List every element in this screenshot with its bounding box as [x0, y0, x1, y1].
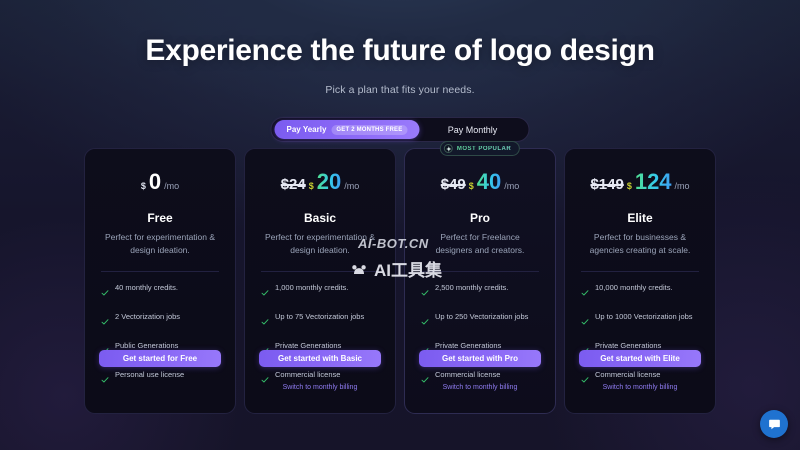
plan-name: Pro — [419, 211, 541, 225]
feature-label: 40 monthly credits. — [115, 283, 178, 292]
list-item: Up to 1000 Vectorization jobs — [581, 312, 699, 331]
status-badge: MOST POPULAR — [440, 141, 520, 156]
feature-label: 10,000 monthly credits. — [595, 283, 673, 292]
pricing-card-free[interactable]: $ 0 /mo Free Perfect for experimentation… — [84, 148, 236, 414]
switch-billing-link[interactable]: Switch to monthly billing — [245, 384, 395, 391]
feature-label: 1,000 monthly credits. — [275, 283, 348, 292]
feature-list: 2,500 monthly credits. Up to 250 Vectori… — [419, 283, 541, 389]
sparkle-icon — [444, 144, 453, 153]
price-value: 124 — [635, 171, 672, 193]
price-period: /mo — [344, 181, 359, 191]
yearly-promo-badge: GET 2 MONTHS FREE — [331, 125, 407, 135]
price-period: /mo — [504, 181, 519, 191]
feature-list: 40 monthly credits. 2 Vectorization jobs… — [99, 283, 221, 389]
currency-symbol: $ — [141, 181, 146, 191]
price-value: 40 — [477, 171, 501, 193]
plan-name: Elite — [579, 211, 701, 225]
feature-label: Private Generations — [435, 341, 501, 350]
card-divider — [261, 271, 379, 272]
list-item: 2 Vectorization jobs — [101, 312, 219, 331]
switch-billing-link[interactable]: Switch to monthly billing — [565, 384, 715, 391]
original-price: $49 — [441, 176, 466, 193]
pricing-card-elite[interactable]: $149 $ 124 /mo Elite Perfect for busines… — [564, 148, 716, 414]
check-icon — [261, 313, 269, 331]
cta-button-elite[interactable]: Get started with Elite — [579, 350, 701, 367]
plan-name: Free — [99, 211, 221, 225]
original-price: $24 — [281, 176, 306, 193]
price-period: /mo — [164, 181, 179, 191]
plan-description: Perfect for experimentation & design ide… — [259, 231, 381, 257]
feature-label: Up to 250 Vectorization jobs — [435, 312, 528, 321]
toggle-yearly-label: Pay Yearly — [287, 125, 327, 134]
pricing-card-basic[interactable]: $24 $ 20 /mo Basic Perfect for experimen… — [244, 148, 396, 414]
chat-bubble-icon — [768, 418, 781, 431]
page-root: Experience the future of logo design Pic… — [0, 0, 800, 450]
currency-symbol: $ — [469, 181, 474, 191]
switch-billing-link[interactable]: Switch to monthly billing — [405, 384, 555, 391]
card-divider — [421, 271, 539, 272]
popular-badge-label: MOST POPULAR — [457, 146, 511, 152]
price-row: $149 $ 124 /mo — [579, 171, 701, 199]
page-title: Experience the future of logo design — [0, 34, 800, 68]
check-icon — [581, 313, 589, 331]
check-icon — [101, 313, 109, 331]
page-subtitle: Pick a plan that fits your needs. — [0, 84, 800, 96]
feature-label: Public Generations — [115, 341, 178, 350]
price-value: 20 — [317, 171, 341, 193]
price-row: $ 0 /mo — [99, 171, 221, 199]
check-icon — [421, 284, 429, 302]
feature-label: 2 Vectorization jobs — [115, 312, 180, 321]
feature-label: Personal use license — [115, 370, 184, 379]
plan-description: Perfect for businesses & agencies creati… — [579, 231, 701, 257]
feature-label: Commercial license — [595, 370, 660, 379]
plan-description: Perfect for experimentation & design ide… — [99, 231, 221, 257]
currency-symbol: $ — [309, 181, 314, 191]
billing-period-toggle[interactable]: Pay Yearly GET 2 MONTHS FREE Pay Monthly — [271, 117, 530, 142]
check-icon — [101, 284, 109, 302]
currency-symbol: $ — [627, 181, 632, 191]
toggle-option-yearly[interactable]: Pay Yearly GET 2 MONTHS FREE — [275, 120, 420, 139]
list-item: 40 monthly credits. — [101, 283, 219, 302]
list-item: Personal use license — [101, 370, 219, 389]
plan-description: Perfect for Freelance designers and crea… — [419, 231, 541, 257]
feature-list: 1,000 monthly credits. Up to 75 Vectoriz… — [259, 283, 381, 389]
cta-button-pro[interactable]: Get started with Pro — [419, 350, 541, 367]
list-item: 1,000 monthly credits. — [261, 283, 379, 302]
cta-button-basic[interactable]: Get started with Basic — [259, 350, 381, 367]
check-icon — [581, 284, 589, 302]
cta-button-free[interactable]: Get started for Free — [99, 350, 221, 367]
feature-label: Private Generations — [275, 341, 341, 350]
list-item: 10,000 monthly credits. — [581, 283, 699, 302]
check-icon — [421, 313, 429, 331]
card-divider — [101, 271, 219, 272]
chat-widget-button[interactable] — [760, 410, 788, 438]
price-row: $49 $ 40 /mo — [419, 171, 541, 199]
pricing-cards: $ 0 /mo Free Perfect for experimentation… — [84, 148, 716, 414]
check-icon — [261, 284, 269, 302]
price-period: /mo — [675, 181, 690, 191]
price-value: 0 — [149, 171, 161, 193]
pricing-card-pro[interactable]: MOST POPULAR $49 $ 40 /mo Pro Perfect fo… — [404, 148, 556, 414]
price-row: $24 $ 20 /mo — [259, 171, 381, 199]
card-divider — [581, 271, 699, 272]
check-icon — [101, 371, 109, 389]
feature-label: Commercial license — [275, 370, 340, 379]
feature-label: Up to 75 Vectorization jobs — [275, 312, 364, 321]
feature-label: Up to 1000 Vectorization jobs — [595, 312, 693, 321]
feature-label: 2,500 monthly credits. — [435, 283, 508, 292]
list-item: Up to 250 Vectorization jobs — [421, 312, 539, 331]
feature-label: Commercial license — [435, 370, 500, 379]
feature-list: 10,000 monthly credits. Up to 1000 Vecto… — [579, 283, 701, 389]
feature-label: Private Generations — [595, 341, 661, 350]
original-price: $149 — [590, 176, 623, 193]
plan-name: Basic — [259, 211, 381, 225]
list-item: 2,500 monthly credits. — [421, 283, 539, 302]
toggle-option-monthly[interactable]: Pay Monthly — [419, 120, 525, 139]
list-item: Up to 75 Vectorization jobs — [261, 312, 379, 331]
